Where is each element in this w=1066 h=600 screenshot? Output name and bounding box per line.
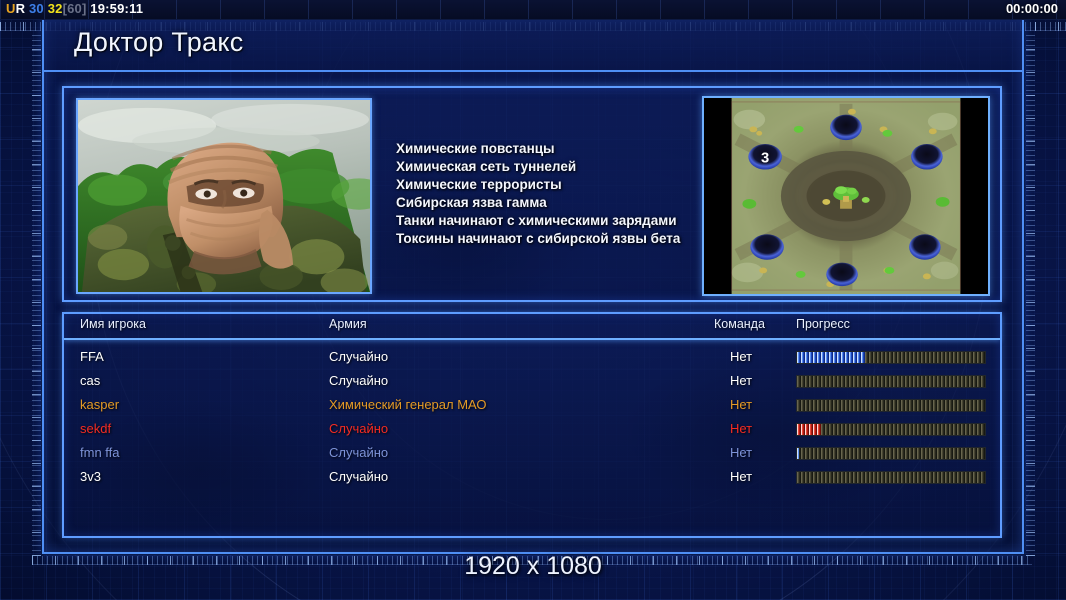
cell-army: Случайно (329, 421, 388, 436)
lobby-window: Доктор Тракс (42, 16, 1024, 554)
player-list-panel: Имя игрока Армия Команда Прогресс FFAСлу… (62, 312, 1002, 538)
cell-army: Случайно (329, 469, 388, 484)
progress-bar (796, 447, 986, 460)
status-number-secondary: 32 (48, 1, 63, 16)
cell-army: Случайно (329, 349, 388, 364)
cell-team: Нет (730, 373, 752, 388)
cell-player-name: cas (80, 373, 100, 388)
ruler-left (32, 31, 41, 556)
progress-bar-fill (797, 424, 821, 435)
map-preview[interactable]: 3 (702, 96, 990, 296)
cell-team: Нет (730, 349, 752, 364)
session-status-text: UR 30 32[60] 19:59:11 (6, 1, 143, 16)
cell-player-name: 3v3 (80, 469, 101, 484)
cell-player-name: fmn ffa (80, 445, 120, 460)
cell-army: Случайно (329, 445, 388, 460)
table-row[interactable]: casСлучайноНет (64, 370, 1000, 394)
progress-bar (796, 375, 986, 388)
progress-bar-track (797, 400, 985, 411)
map-preview-image: 3 (704, 98, 988, 294)
status-clock: 19:59:11 (90, 1, 143, 16)
description-line: Химическая сеть туннелей (396, 158, 736, 176)
column-header-army: Армия (329, 317, 367, 331)
progress-bar-track (797, 448, 985, 459)
progress-bar-fill (797, 448, 799, 459)
column-header-player-name: Имя игрока (80, 317, 146, 331)
progress-bar (796, 423, 986, 436)
game-timer: 00:00:00 (1006, 1, 1058, 16)
description-line: Сибирская язва гамма (396, 194, 736, 212)
progress-bar-track (797, 472, 985, 483)
faction-info-panel: Химические повстанцы Химическая сеть тун… (62, 86, 1002, 302)
table-row[interactable]: kasperХимический генерал МАОНет (64, 394, 1000, 418)
masked-soldier-portrait-icon (78, 100, 370, 292)
cell-army: Химический генерал МАО (329, 397, 487, 412)
table-row[interactable]: 3v3СлучайноНет (64, 466, 1000, 490)
progress-bar (796, 351, 986, 364)
progress-bar (796, 399, 986, 412)
cell-player-name: kasper (80, 397, 119, 412)
cell-team: Нет (730, 469, 752, 484)
status-prefix-u: U (6, 1, 16, 16)
progress-bar (796, 471, 986, 484)
description-line: Химические повстанцы (396, 140, 736, 158)
table-row[interactable]: sekdfСлучайноНет (64, 418, 1000, 442)
description-line: Токсины начинают с сибирской язвы бета (396, 230, 736, 248)
page-title: Доктор Тракс (74, 27, 244, 58)
description-line: Танки начинают с химическими зарядами (396, 212, 736, 230)
progress-bar-fill (797, 352, 865, 363)
progress-bar-track (797, 424, 985, 435)
status-prefix-r: R (16, 1, 26, 16)
status-bracket-value: [60] (63, 1, 87, 16)
cell-player-name: FFA (80, 349, 104, 364)
resolution-label: 1920 x 1080 (0, 552, 1066, 581)
player-table-header: Имя игрока Армия Команда Прогресс (64, 314, 1000, 340)
ruler-right (1026, 31, 1035, 556)
faction-description: Химические повстанцы Химическая сеть тун… (396, 140, 736, 248)
cell-player-name: sekdf (80, 421, 111, 436)
column-header-progress: Прогресс (796, 317, 850, 331)
game-lobby-screen: UR 30 32[60] 19:59:11 00:00:00 Доктор Тр… (0, 0, 1066, 600)
status-number-primary: 30 (29, 1, 44, 16)
progress-bar-track (797, 376, 985, 387)
faction-portrait (76, 98, 372, 294)
window-titlebar: Доктор Тракс (44, 18, 1022, 72)
start-position-label: 3 (761, 151, 769, 167)
cell-army: Случайно (329, 373, 388, 388)
table-row[interactable]: fmn ffaСлучайноНет (64, 442, 1000, 466)
cell-team: Нет (730, 397, 752, 412)
table-row[interactable]: FFAСлучайноНет (64, 346, 1000, 370)
system-status-bar: UR 30 32[60] 19:59:11 00:00:00 (0, 0, 1066, 20)
description-line: Химические террористы (396, 176, 736, 194)
cell-team: Нет (730, 421, 752, 436)
column-header-team: Команда (714, 317, 765, 331)
cell-team: Нет (730, 445, 752, 460)
